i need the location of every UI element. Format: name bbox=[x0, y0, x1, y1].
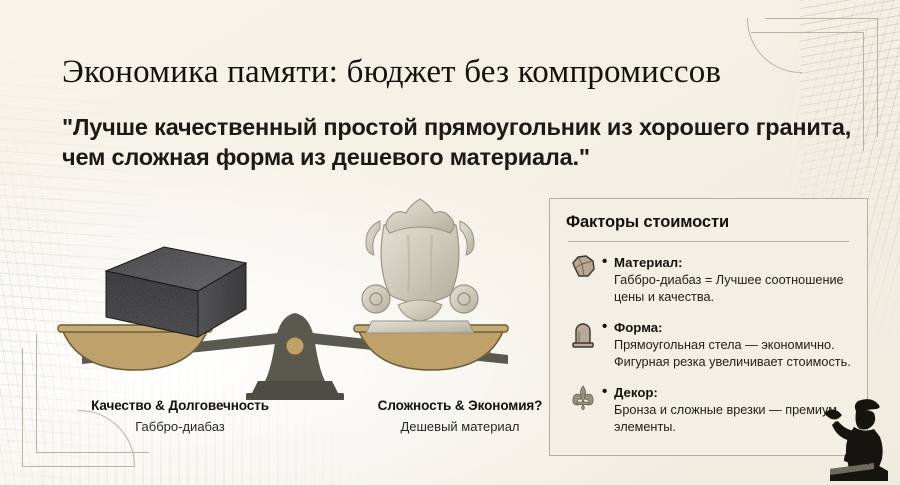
factor-item-material: Материал: Габбро-диабаз = Лучшее соотнош… bbox=[566, 254, 851, 305]
scale-label-right: Сложность & Экономия? Дешевый материал bbox=[340, 397, 580, 437]
factor-body-material: Материал: Габбро-диабаз = Лучшее соотнош… bbox=[600, 254, 851, 305]
scale-label-left-title: Качество & Долговечность bbox=[50, 397, 310, 415]
factor-body-shape: Форма: Прямоугольная стела — экономично.… bbox=[600, 319, 851, 370]
scale-label-left-subtitle: Габбро-диабаз bbox=[50, 417, 310, 437]
page-title: Экономика памяти: бюджет без компромиссо… bbox=[62, 52, 852, 92]
scale-label-right-title: Сложность & Экономия? bbox=[340, 397, 580, 415]
panel-divider bbox=[568, 241, 849, 242]
factor-heading-shape: Форма: bbox=[602, 319, 851, 336]
factor-item-shape: Форма: Прямоугольная стела — экономично.… bbox=[566, 319, 851, 370]
slide-root: Экономика памяти: бюджет без компромиссо… bbox=[0, 0, 900, 485]
factor-heading-material: Материал: bbox=[602, 254, 851, 271]
granite-block-object bbox=[102, 243, 250, 341]
scale-label-left: Качество & Долговечность Габбро-диабаз bbox=[50, 397, 310, 437]
balance-scale-illustration: Качество & Долговечность Габбро-диабаз С… bbox=[50, 185, 540, 455]
scale-label-right-subtitle: Дешевый материал bbox=[340, 417, 580, 437]
tombstone-icon bbox=[566, 319, 600, 348]
panel-title: Факторы стоимости bbox=[566, 213, 851, 232]
factor-text-shape: Прямоугольная стела — экономично. Фигурн… bbox=[602, 337, 851, 370]
quote-text: "Лучше качественный простой прямоугольни… bbox=[62, 112, 852, 172]
stonemason-with-hammer-icon bbox=[808, 387, 894, 483]
ornate-carved-stone-object bbox=[350, 195, 490, 343]
stone-rock-icon bbox=[566, 254, 600, 278]
fleur-de-lis-icon bbox=[566, 384, 600, 411]
factor-text-material: Габбро-диабаз = Лучшее соотношение цены … bbox=[602, 272, 851, 305]
